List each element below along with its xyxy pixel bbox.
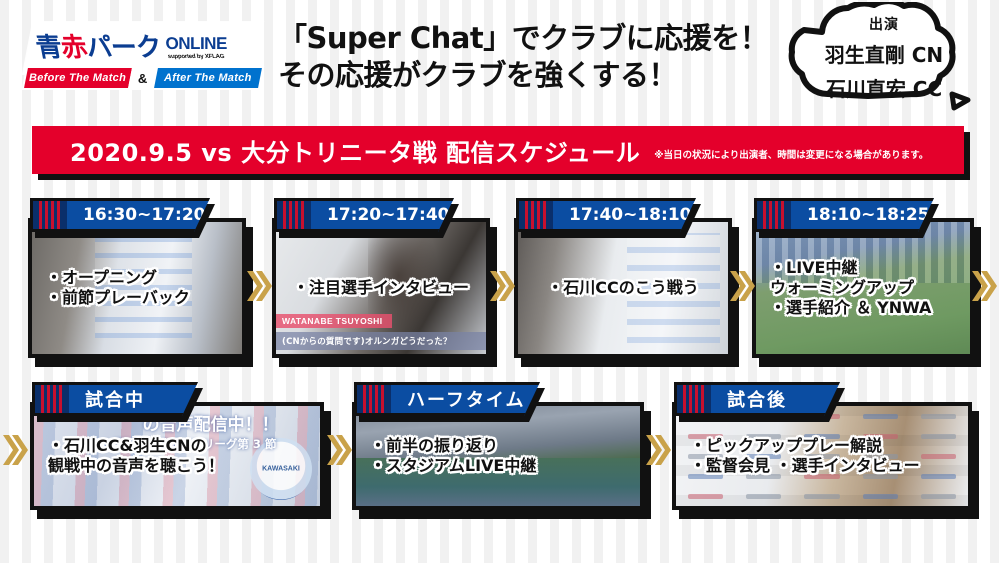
banner-title: 2020.9.5 vs 大分トリニータ戦 配信スケジュール	[70, 133, 640, 168]
ribbon-before-match: Before The Match	[24, 68, 132, 88]
card-line: ・注目選手インタビュー	[293, 278, 469, 298]
double-chevron-right-icon	[2, 432, 28, 468]
time-badge-label: 17:20~17:40	[311, 205, 463, 225]
ribbon-after-match: After The Match	[154, 68, 262, 88]
time-badge: 17:20~17:40	[274, 198, 454, 232]
time-badge-body: 17:20~17:40	[274, 198, 454, 232]
stripe-accent-icon	[277, 201, 311, 229]
schedule-card[interactable]: の音声配信中！！2020 明治安田生命 J1 リーグ第 3 節KAWASAKI・…	[30, 382, 324, 510]
card-media: ・石川CCのこう戦う	[514, 218, 732, 358]
double-chevron-right-icon	[326, 432, 352, 468]
schedule-card[interactable]: ・オープニング・前節プレーバック16:30~17:20	[28, 198, 246, 358]
stripe-accent-icon	[357, 385, 391, 413]
card-line: ・石川CCのこう戦う	[547, 278, 699, 298]
card-media: ・LIVE中継ウォーミングアップ・選手紹介 ＆ YNWA	[752, 218, 974, 358]
time-badge: 16:30~17:20	[30, 198, 210, 232]
card-media: WATANABE TSUYOSHI(CNからの質問です)オルンガどうだった？・注…	[272, 218, 490, 358]
ribbon-after-label: After The Match	[164, 72, 252, 84]
time-badge-label: ハーフタイム	[391, 386, 540, 412]
double-chevron-right-icon	[246, 268, 272, 304]
logo-online-block: ONLINE supported by XFLAG	[164, 35, 230, 60]
cast-label: 出演	[786, 14, 982, 34]
card-line: ・監督会見 ・選手インタビュー	[690, 456, 920, 476]
stripe-accent-icon	[519, 201, 553, 229]
time-badge-body: 試合後	[674, 382, 840, 416]
time-badge-body: 17:40~18:10	[516, 198, 696, 232]
card-line: ・選手紹介 ＆ YNWA	[770, 298, 931, 318]
double-chevron-right-icon	[489, 268, 515, 304]
card-line: ・ピックアッププレー解説	[690, 436, 882, 456]
site-logo: 青赤パーク ONLINE supported by XFLAG Before T…	[28, 22, 258, 96]
ribbon-amp-label: &	[138, 71, 147, 86]
card-media: ・オープニング・前節プレーバック	[28, 218, 246, 358]
card-line: ・前節プレーバック	[46, 288, 190, 308]
schedule-card[interactable]: ・石川CCのこう戦う17:40~18:10	[514, 198, 732, 358]
schedule-card[interactable]: ・ピックアッププレー解説・監督会見 ・選手インタビュー試合後	[672, 382, 972, 510]
time-badge-body: 試合中	[32, 382, 198, 416]
card-caption: ・オープニング・前節プレーバック	[32, 222, 242, 354]
card-line: ・石川CC&羽生CNの	[48, 436, 207, 456]
ribbon-before-label: Before The Match	[29, 72, 126, 84]
double-chevron-right-icon	[729, 268, 755, 304]
schedule-card[interactable]: ・前半の振り返り・スタジアムLIVE中継ハーフタイム	[352, 382, 644, 510]
card-line: ・オープニング	[46, 268, 157, 288]
cast-name-2: 石川直宏 CC	[786, 73, 982, 102]
stripe-accent-icon	[757, 201, 791, 229]
cast-text: 出演 羽生直剛 CN 石川直宏 CC	[786, 14, 982, 102]
card-line: 観戦中の音声を聴こう！	[48, 456, 224, 476]
card-line: ウォーミングアップ	[770, 278, 914, 298]
time-badge: 試合後	[674, 382, 840, 416]
logo-ribbon: Before The Match & After The Match	[22, 66, 265, 90]
time-badge-label: 16:30~17:20	[67, 205, 219, 225]
schedule-banner: 2020.9.5 vs 大分トリニータ戦 配信スケジュール ※当日の状況により出…	[32, 126, 964, 174]
cast-speech-bubble: 出演 羽生直剛 CN 石川直宏 CC	[786, 2, 982, 118]
card-caption: ・石川CCのこう戦う	[518, 222, 728, 354]
time-badge: 17:40~18:10	[516, 198, 696, 232]
time-badge: 試合中	[32, 382, 198, 416]
time-badge-label: 試合後	[711, 386, 801, 412]
time-badge-body: ハーフタイム	[354, 382, 540, 416]
card-caption: ・注目選手インタビュー	[276, 222, 486, 354]
card-line: ・LIVE中継	[770, 258, 857, 278]
banner-note: ※当日の状況により出演者、時間は変更になる場合があります。	[654, 147, 928, 161]
headline-line-2: その応援がクラブを強くする！	[278, 57, 768, 94]
stripe-accent-icon	[33, 201, 67, 229]
card-caption: ・LIVE中継ウォーミングアップ・選手紹介 ＆ YNWA	[756, 222, 970, 354]
logo-online-text: ONLINE	[164, 35, 229, 52]
time-badge: ハーフタイム	[354, 382, 540, 416]
time-badge: 18:10~18:25	[754, 198, 934, 232]
logo-main: 青赤パーク ONLINE supported by XFLAG	[32, 26, 254, 68]
time-badge-label: 試合中	[69, 386, 159, 412]
time-badge-label: 17:40~18:10	[553, 205, 705, 225]
schedule-card[interactable]: WATANABE TSUYOSHI(CNからの質問です)オルンガどうだった？・注…	[272, 198, 490, 358]
stripe-accent-icon	[35, 385, 69, 413]
logo-char-park: パーク	[83, 33, 164, 63]
time-badge-body: 16:30~17:20	[30, 198, 210, 232]
double-chevron-right-icon	[971, 268, 997, 304]
time-badge-body: 18:10~18:25	[754, 198, 934, 232]
schedule-card[interactable]: ・LIVE中継ウォーミングアップ・選手紹介 ＆ YNWA18:10~18:25	[752, 198, 974, 358]
cast-name-1: 羽生直剛 CN	[786, 39, 982, 68]
double-chevron-right-icon	[645, 432, 671, 468]
card-line: ・スタジアムLIVE中継	[370, 456, 536, 476]
logo-wordmark-jp: 青赤パーク	[34, 35, 164, 61]
headline-line-1: 「Super Chat」でクラブに応援を！	[278, 20, 768, 57]
stripe-accent-icon	[677, 385, 711, 413]
time-badge-label: 18:10~18:25	[791, 205, 943, 225]
headline: 「Super Chat」でクラブに応援を！ その応援がクラブを強くする！	[278, 20, 768, 93]
card-line: ・前半の振り返り	[370, 436, 498, 456]
logo-supported-text: supported by XFLAG	[167, 54, 225, 60]
